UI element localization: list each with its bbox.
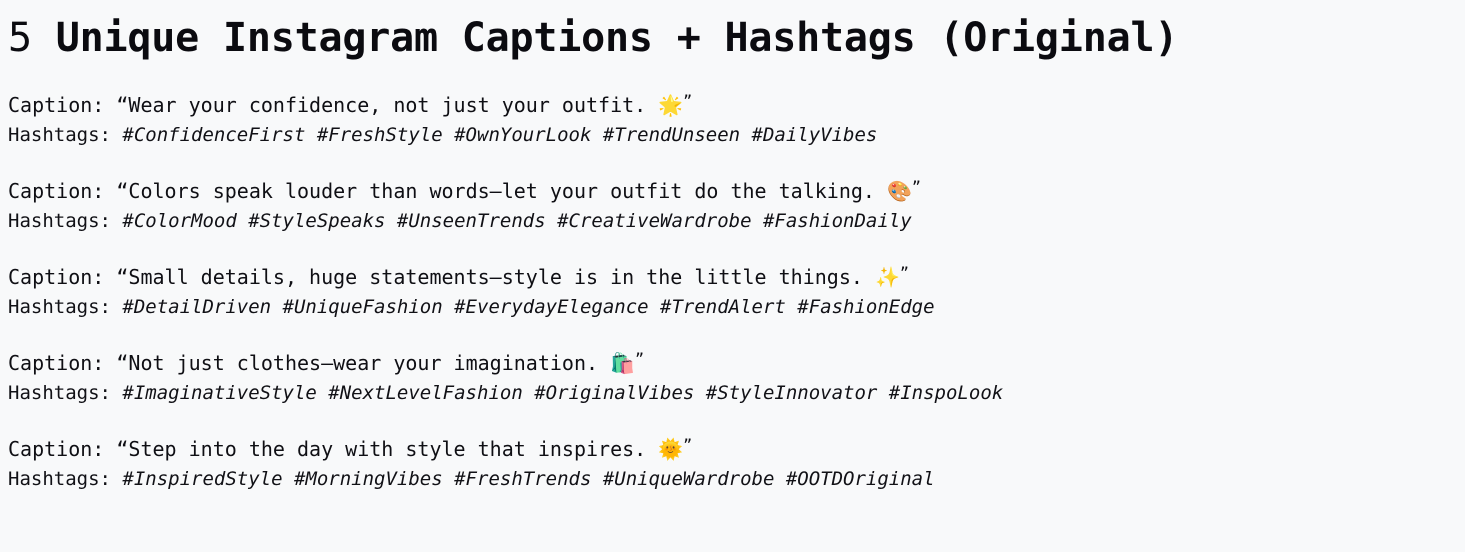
caption-text: Not just clothes—wear your imagination. [128,351,610,375]
caption-label: Caption: [8,265,116,289]
artist-palette-emoji: 🎨 [887,179,912,203]
hashtags-line: Hashtags: #DetailDriven #UniqueFashion #… [8,293,1465,321]
caption-block-list: Caption: “Wear your confidence, not just… [8,86,1465,493]
caption-line: Caption: “Small details, huge statements… [8,258,1465,293]
hashtags-label: Hashtags: [8,210,122,232]
caption-text: Colors speak louder than words—let your … [128,179,887,203]
page-title-strong: Unique Instagram Captions + Hashtags (Or… [56,15,1178,61]
caption-line: Caption: “Wear your confidence, not just… [8,86,1465,121]
sparkles-emoji: ✨ [875,265,900,289]
page-title-lead: 5 [8,15,56,61]
caption-text: Wear your confidence, not just your outf… [128,93,658,117]
caption-label: Caption: [8,351,116,375]
hashtags-text: #ConfidenceFirst #FreshStyle #OwnYourLoo… [122,124,877,146]
page-title: 5 Unique Instagram Captions + Hashtags (… [8,12,1465,64]
hashtags-label: Hashtags: [8,468,122,490]
hashtags-text: #DetailDriven #UniqueFashion #EverydayEl… [122,296,934,318]
open-quote: “ [116,179,128,203]
hashtags-line: Hashtags: #ColorMood #StyleSpeaks #Unsee… [8,207,1465,235]
hashtags-text: #ColorMood #StyleSpeaks #UnseenTrends #C… [122,210,911,232]
hashtags-text: #ImaginativeStyle #NextLevelFashion #Ori… [122,382,1003,404]
caption-text: Step into the day with style that inspir… [128,437,658,461]
close-quote: ” [912,178,921,196]
caption-block: Caption: “Wear your confidence, not just… [8,86,1465,149]
hashtags-label: Hashtags: [8,296,122,318]
caption-label: Caption: [8,437,116,461]
close-quote: ” [683,436,692,454]
hashtags-line: Hashtags: #ConfidenceFirst #FreshStyle #… [8,121,1465,149]
open-quote: “ [116,437,128,461]
open-quote: “ [116,265,128,289]
caption-block: Caption: “Colors speak louder than words… [8,172,1465,235]
hashtags-text: #InspiredStyle #MorningVibes #FreshTrend… [122,468,934,490]
caption-block: Caption: “Small details, huge statements… [8,258,1465,321]
caption-label: Caption: [8,179,116,203]
caption-line: Caption: “Colors speak louder than words… [8,172,1465,207]
open-quote: “ [116,93,128,117]
caption-block: Caption: “Not just clothes—wear your ima… [8,344,1465,407]
caption-line: Caption: “Not just clothes—wear your ima… [8,344,1465,379]
hashtags-label: Hashtags: [8,382,122,404]
caption-label: Caption: [8,93,116,117]
hashtags-line: Hashtags: #InspiredStyle #MorningVibes #… [8,465,1465,493]
caption-block: Caption: “Step into the day with style t… [8,430,1465,493]
glowing-star-emoji: 🌟 [658,93,683,117]
caption-text: Small details, huge statements—style is … [128,265,875,289]
sun-with-face-emoji: 🌞 [658,437,683,461]
hashtags-label: Hashtags: [8,124,122,146]
close-quote: ” [635,350,644,368]
hashtags-line: Hashtags: #ImaginativeStyle #NextLevelFa… [8,379,1465,407]
close-quote: ” [900,264,909,282]
open-quote: “ [116,351,128,375]
shopping-bags-emoji: 🛍️ [610,351,635,375]
close-quote: ” [683,92,692,110]
caption-line: Caption: “Step into the day with style t… [8,430,1465,465]
content-page: 5 Unique Instagram Captions + Hashtags (… [0,0,1465,552]
